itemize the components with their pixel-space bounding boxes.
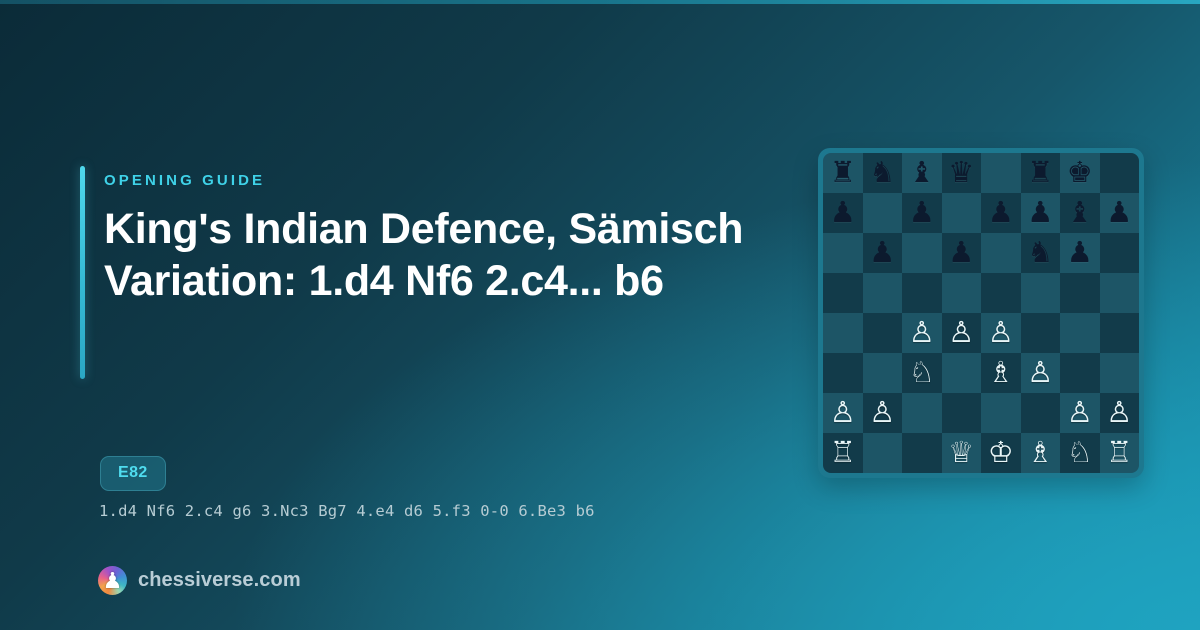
board-square-h8[interactable] — [1100, 153, 1140, 193]
chessboard-container: ♜♞♝♛♜♚♟♟♟♟♝♟♟♟♞♟♙♙♙♘♗♙♙♙♙♙♖♕♔♗♘♖ — [818, 148, 1144, 478]
piece-wP-icon[interactable]: ♙ — [1106, 399, 1132, 428]
chessiverse-logo-icon: ♟ — [98, 566, 127, 595]
board-square-g4[interactable] — [1060, 313, 1100, 353]
board-square-g3[interactable] — [1060, 353, 1100, 393]
board-square-e8[interactable] — [981, 153, 1021, 193]
piece-bN-icon[interactable]: ♞ — [869, 159, 895, 188]
board-square-c4[interactable]: ♙ — [902, 313, 942, 353]
eco-code-badge: E82 — [100, 456, 166, 491]
piece-bP-icon[interactable]: ♟ — [869, 239, 895, 268]
board-square-a7[interactable]: ♟ — [823, 193, 863, 233]
board-square-h7[interactable]: ♟ — [1100, 193, 1140, 233]
board-square-f8[interactable]: ♜ — [1021, 153, 1061, 193]
board-square-e3[interactable]: ♗ — [981, 353, 1021, 393]
board-square-c8[interactable]: ♝ — [902, 153, 942, 193]
piece-bP-icon[interactable]: ♟ — [1027, 199, 1053, 228]
board-square-d1[interactable]: ♕ — [942, 433, 982, 473]
board-square-d5[interactable] — [942, 273, 982, 313]
piece-wB-icon[interactable]: ♗ — [1027, 439, 1053, 468]
board-square-d4[interactable]: ♙ — [942, 313, 982, 353]
piece-wP-icon[interactable]: ♙ — [1067, 399, 1093, 428]
board-square-d2[interactable] — [942, 393, 982, 433]
board-square-c6[interactable] — [902, 233, 942, 273]
board-square-b2[interactable]: ♙ — [863, 393, 903, 433]
piece-bP-icon[interactable]: ♟ — [830, 199, 856, 228]
piece-bP-icon[interactable]: ♟ — [909, 199, 935, 228]
board-square-h6[interactable] — [1100, 233, 1140, 273]
board-square-f5[interactable] — [1021, 273, 1061, 313]
opening-guide-card: OPENING GUIDE King's Indian Defence, Säm… — [0, 0, 1200, 630]
board-square-e6[interactable] — [981, 233, 1021, 273]
board-square-h5[interactable] — [1100, 273, 1140, 313]
board-square-e1[interactable]: ♔ — [981, 433, 1021, 473]
board-square-h1[interactable]: ♖ — [1100, 433, 1140, 473]
board-square-b6[interactable]: ♟ — [863, 233, 903, 273]
board-square-h2[interactable]: ♙ — [1100, 393, 1140, 433]
piece-wQ-icon[interactable]: ♕ — [948, 439, 974, 468]
board-square-d8[interactable]: ♛ — [942, 153, 982, 193]
board-square-b5[interactable] — [863, 273, 903, 313]
piece-bQ-icon[interactable]: ♛ — [948, 159, 974, 188]
board-square-d7[interactable] — [942, 193, 982, 233]
board-square-f7[interactable]: ♟ — [1021, 193, 1061, 233]
board-square-b4[interactable] — [863, 313, 903, 353]
piece-bK-icon[interactable]: ♚ — [1067, 159, 1093, 188]
logo-chess-piece-icon: ♟ — [103, 570, 123, 592]
piece-bP-icon[interactable]: ♟ — [948, 239, 974, 268]
piece-wB-icon[interactable]: ♗ — [988, 359, 1014, 388]
piece-bB-icon[interactable]: ♝ — [909, 159, 935, 188]
board-square-f2[interactable] — [1021, 393, 1061, 433]
chessboard: ♜♞♝♛♜♚♟♟♟♟♝♟♟♟♞♟♙♙♙♘♗♙♙♙♙♙♖♕♔♗♘♖ — [823, 153, 1139, 473]
eyebrow-label: OPENING GUIDE — [104, 150, 780, 188]
board-square-b8[interactable]: ♞ — [863, 153, 903, 193]
board-square-b7[interactable] — [863, 193, 903, 233]
piece-wP-icon[interactable]: ♙ — [1027, 359, 1053, 388]
piece-wN-icon[interactable]: ♘ — [1067, 439, 1093, 468]
board-square-a6[interactable] — [823, 233, 863, 273]
piece-wK-icon[interactable]: ♔ — [988, 439, 1014, 468]
board-square-d3[interactable] — [942, 353, 982, 393]
board-square-g5[interactable] — [1060, 273, 1100, 313]
board-square-f6[interactable]: ♞ — [1021, 233, 1061, 273]
board-square-h4[interactable] — [1100, 313, 1140, 353]
piece-bP-icon[interactable]: ♟ — [988, 199, 1014, 228]
text-column: OPENING GUIDE King's Indian Defence, Säm… — [80, 150, 780, 308]
piece-wP-icon[interactable]: ♙ — [988, 319, 1014, 348]
piece-bB-icon[interactable]: ♝ — [1067, 199, 1093, 228]
board-square-e5[interactable] — [981, 273, 1021, 313]
move-list: 1.d4 Nf6 2.c4 g6 3.Nc3 Bg7 4.e4 d6 5.f3 … — [99, 502, 595, 520]
accent-bar — [80, 166, 85, 379]
piece-bR-icon[interactable]: ♜ — [1027, 159, 1053, 188]
board-square-c3[interactable]: ♘ — [902, 353, 942, 393]
board-square-a3[interactable] — [823, 353, 863, 393]
board-square-d6[interactable]: ♟ — [942, 233, 982, 273]
board-square-f3[interactable]: ♙ — [1021, 353, 1061, 393]
piece-wP-icon[interactable]: ♙ — [830, 399, 856, 428]
board-square-a1[interactable]: ♖ — [823, 433, 863, 473]
board-square-b1[interactable] — [863, 433, 903, 473]
top-accent-line — [0, 0, 1200, 4]
board-square-g1[interactable]: ♘ — [1060, 433, 1100, 473]
board-square-c2[interactable] — [902, 393, 942, 433]
piece-bN-icon[interactable]: ♞ — [1027, 239, 1053, 268]
site-footer: ♟ chessiverse.com — [98, 566, 301, 595]
board-square-c5[interactable] — [902, 273, 942, 313]
piece-wP-icon[interactable]: ♙ — [909, 319, 935, 348]
piece-wR-icon[interactable]: ♖ — [1106, 439, 1132, 468]
piece-bR-icon[interactable]: ♜ — [830, 159, 856, 188]
board-square-e4[interactable]: ♙ — [981, 313, 1021, 353]
board-square-e2[interactable] — [981, 393, 1021, 433]
board-square-e7[interactable]: ♟ — [981, 193, 1021, 233]
board-square-c1[interactable] — [902, 433, 942, 473]
board-square-f1[interactable]: ♗ — [1021, 433, 1061, 473]
board-square-a8[interactable]: ♜ — [823, 153, 863, 193]
board-square-g2[interactable]: ♙ — [1060, 393, 1100, 433]
piece-bP-icon[interactable]: ♟ — [1106, 199, 1132, 228]
board-square-c7[interactable]: ♟ — [902, 193, 942, 233]
piece-wN-icon[interactable]: ♘ — [909, 359, 935, 388]
board-square-a5[interactable] — [823, 273, 863, 313]
board-square-g8[interactable]: ♚ — [1060, 153, 1100, 193]
site-name-label: chessiverse.com — [138, 569, 301, 592]
piece-wP-icon[interactable]: ♙ — [948, 319, 974, 348]
board-square-f4[interactable] — [1021, 313, 1061, 353]
piece-wP-icon[interactable]: ♙ — [869, 399, 895, 428]
board-square-a4[interactable] — [823, 313, 863, 353]
piece-wR-icon[interactable]: ♖ — [830, 439, 856, 468]
board-square-b3[interactable] — [863, 353, 903, 393]
piece-bP-icon[interactable]: ♟ — [1067, 239, 1093, 268]
board-square-g6[interactable]: ♟ — [1060, 233, 1100, 273]
page-title: King's Indian Defence, Sämisch Variation… — [104, 203, 744, 308]
board-square-h3[interactable] — [1100, 353, 1140, 393]
board-square-g7[interactable]: ♝ — [1060, 193, 1100, 233]
board-square-a2[interactable]: ♙ — [823, 393, 863, 433]
